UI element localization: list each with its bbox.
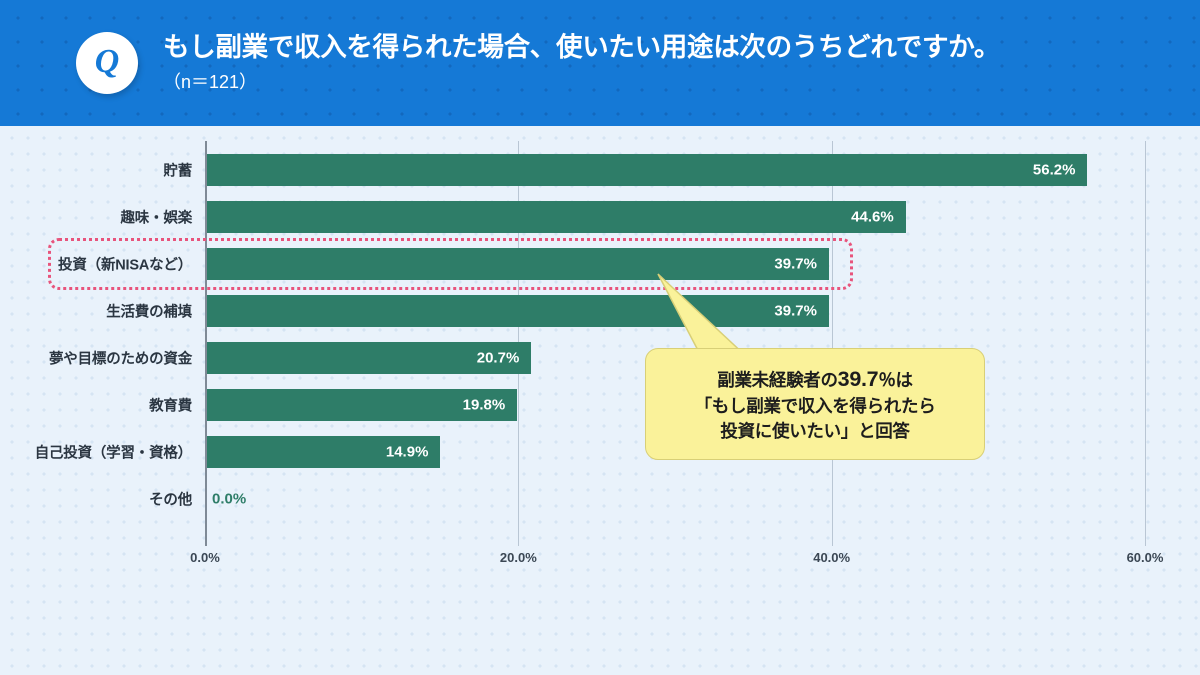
callout-text: 副業未経験者の39.7％は「もし副業で収入を得られたら投資に使いたい」と回答 xyxy=(695,364,936,444)
bar[interactable] xyxy=(207,201,906,233)
chart-row: その他0.0% xyxy=(0,475,1200,522)
bar[interactable] xyxy=(207,295,829,327)
bar[interactable] xyxy=(207,248,829,280)
question-badge-letter: Q xyxy=(95,45,120,79)
category-label: 投資（新NISAなど） xyxy=(58,253,192,274)
x-tick-label: 40.0% xyxy=(813,550,850,565)
bar[interactable] xyxy=(207,154,1087,186)
bar-value-label: 39.7% xyxy=(774,255,817,272)
chart-row: 自己投資（学習・資格）14.9% xyxy=(0,428,1200,475)
category-label: 生活費の補填 xyxy=(106,300,192,321)
sample-size-label: （n＝121） xyxy=(163,68,257,94)
category-label: 教育費 xyxy=(149,394,192,415)
category-label: 貯蓄 xyxy=(163,159,192,180)
bar-value-label: 14.9% xyxy=(386,443,429,460)
chart-row: 夢や目標のための資金20.7% xyxy=(0,334,1200,381)
bar-value-label: 39.7% xyxy=(774,302,817,319)
bar-value-label: 56.2% xyxy=(1033,161,1076,178)
callout-box: 副業未経験者の39.7％は「もし副業で収入を得られたら投資に使いたい」と回答 xyxy=(645,348,985,460)
x-tick-label: 0.0% xyxy=(190,550,220,565)
bar-value-label: 19.8% xyxy=(463,396,506,413)
chart-row: 投資（新NISAなど）39.7% xyxy=(0,240,1200,287)
bar-value-label: 20.7% xyxy=(477,349,520,366)
infographic-page: Q もし副業で収入を得られた場合、使いたい用途は次のうちどれですか。 （n＝12… xyxy=(0,0,1200,675)
page-title: もし副業で収入を得られた場合、使いたい用途は次のうちどれですか。 xyxy=(163,32,1163,63)
x-tick-label: 20.0% xyxy=(500,550,537,565)
category-label: 夢や目標のための資金 xyxy=(49,347,192,368)
chart-row: 貯蓄56.2% xyxy=(0,146,1200,193)
category-label: 自己投資（学習・資格） xyxy=(35,441,192,462)
chart-row: 生活費の補填39.7% xyxy=(0,287,1200,334)
x-tick-label: 60.0% xyxy=(1127,550,1164,565)
category-label: 趣味・娯楽 xyxy=(121,206,193,227)
category-label: その他 xyxy=(149,488,192,509)
chart-row: 教育費19.8% xyxy=(0,381,1200,428)
bar-value-label: 44.6% xyxy=(851,208,894,225)
bar-chart: 貯蓄56.2%趣味・娯楽44.6%投資（新NISAなど）39.7%生活費の補填3… xyxy=(0,126,1200,675)
chart-row: 趣味・娯楽44.6% xyxy=(0,193,1200,240)
header-banner: Q もし副業で収入を得られた場合、使いたい用途は次のうちどれですか。 （n＝12… xyxy=(0,0,1200,126)
question-badge: Q xyxy=(76,32,138,94)
bar-value-label: 0.0% xyxy=(212,490,246,507)
